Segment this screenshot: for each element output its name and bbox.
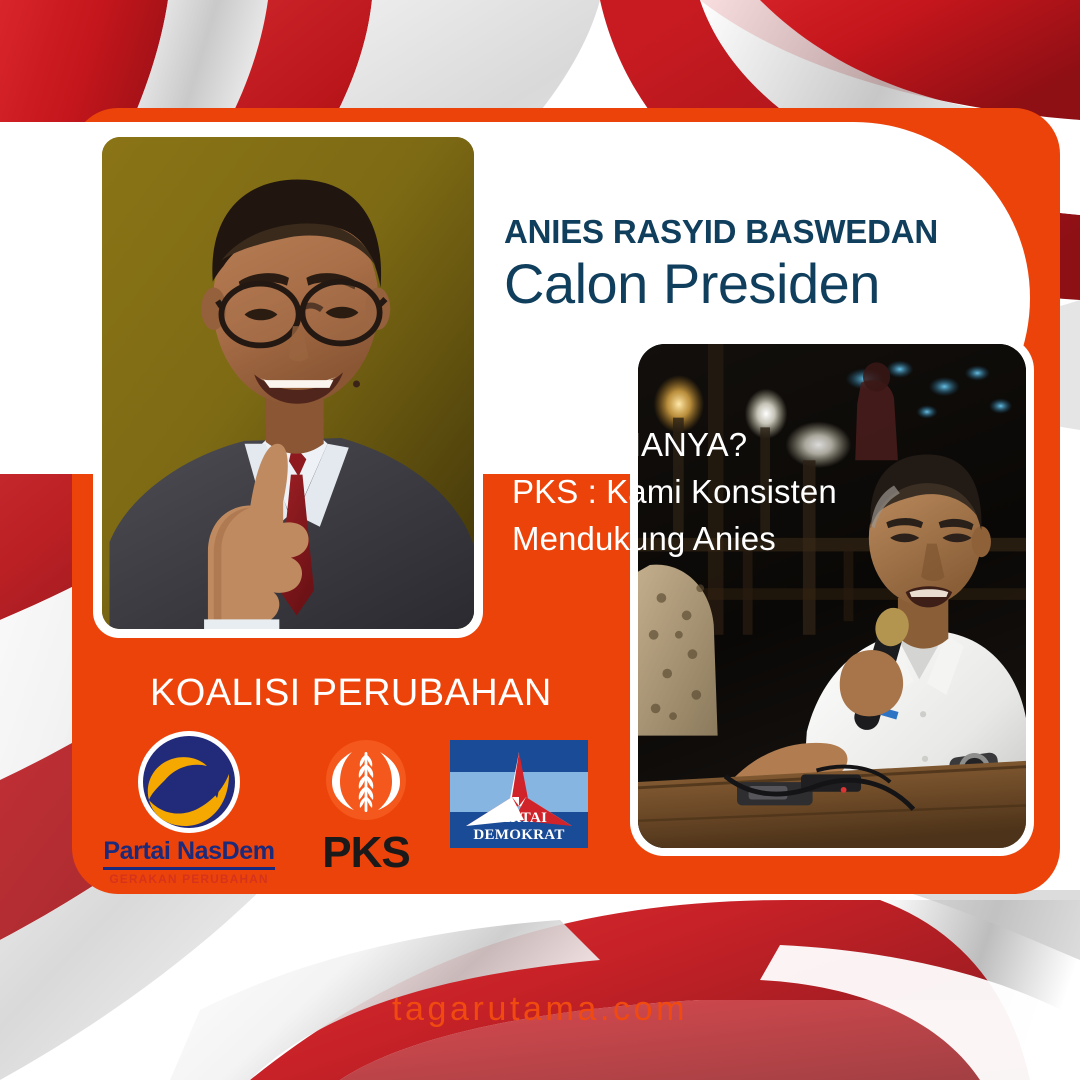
nasdem-mark-svg: [137, 730, 241, 834]
candidate-name: ANIES RASYID BASWEDAN: [504, 214, 1024, 251]
demokrat-wordmark: PARTAI DEMOKRAT: [450, 810, 588, 844]
pks-official-photo-image: [638, 344, 1026, 848]
coalition-title: KOALISI PERUBAHAN: [150, 672, 552, 715]
quote-block: KAMU NANYA? PKS : Kami Konsisten Menduku…: [512, 422, 982, 563]
nasdem-wordmark: Partai NasDem: [103, 837, 274, 870]
pks-official-photo-art: [638, 344, 1026, 848]
party-logo-nasdem: Partai NasDem GERAKAN PERUBAHAN: [96, 730, 282, 886]
candidate-role: Calon Presiden: [504, 253, 1024, 316]
pks-logo-icon: [316, 730, 416, 830]
pks-mark-svg: [316, 730, 416, 830]
anies-portrait-image: [102, 137, 474, 629]
party-logo-pks: PKS: [288, 730, 444, 875]
quote-line-2: PKS : Kami Konsisten: [512, 469, 982, 516]
poster-canvas: ANIES RASYID BASWEDAN Calon Presiden: [0, 0, 1080, 1080]
party-logo-demokrat: PARTAI DEMOKRAT: [450, 730, 600, 848]
headline-block: ANIES RASYID BASWEDAN Calon Presiden: [504, 214, 1024, 316]
anies-portrait-art: [102, 137, 474, 629]
quote-line-3: Mendukung Anies: [512, 516, 982, 563]
demokrat-logo-icon: PARTAI DEMOKRAT: [450, 740, 588, 848]
quote-line-1: KAMU NANYA?: [512, 422, 982, 469]
pks-official-photo-frame: [630, 336, 1034, 856]
anies-portrait-frame: [93, 128, 483, 638]
site-watermark: tagarutama.com: [0, 990, 1080, 1029]
nasdem-logo-icon: [137, 730, 241, 834]
nasdem-tagline: GERAKAN PERUBAHAN: [109, 872, 268, 886]
pks-wordmark: PKS: [322, 831, 409, 875]
coalition-logo-row: Partai NasDem GERAKAN PERUBAHAN: [96, 730, 600, 886]
